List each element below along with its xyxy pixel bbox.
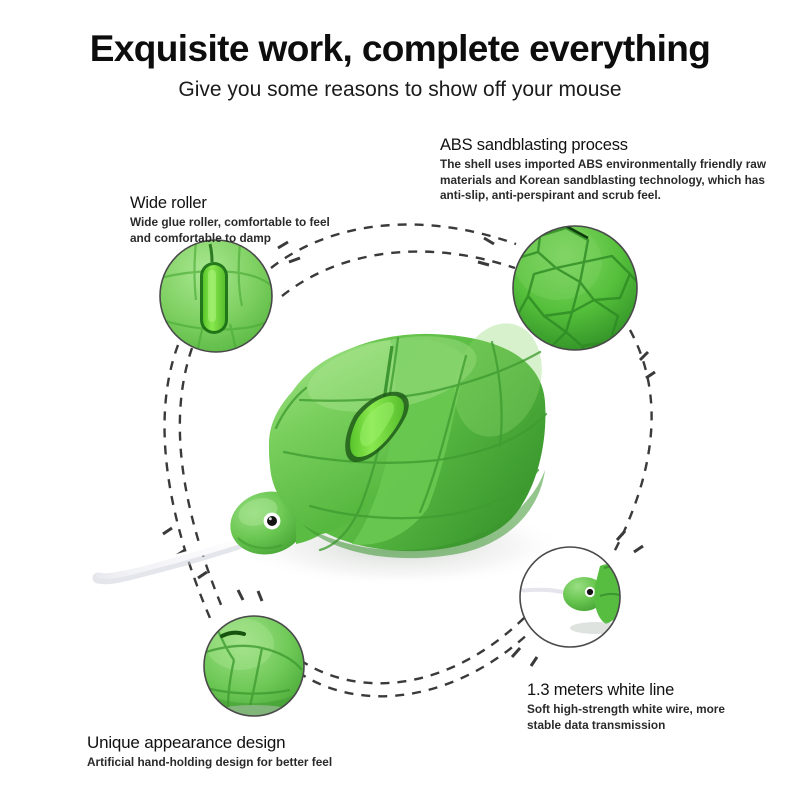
callout-body: Artificial hand-holding design for bette… <box>87 755 387 771</box>
detail-circle-head-and-cable <box>520 547 628 647</box>
callout-wide-roller: Wide roller Wide glue roller, comfortabl… <box>130 194 380 246</box>
callout-body-line: Artificial hand-holding design for bette… <box>87 755 387 771</box>
callout-body: Wide glue roller, comfortable to feel an… <box>130 215 380 246</box>
callout-body-line: The shell uses imported ABS environmenta… <box>440 157 785 173</box>
page-title: Exquisite work, complete everything <box>0 28 800 70</box>
product-turtle-mouse <box>98 312 565 587</box>
page-subtitle: Give you some reasons to show off your m… <box>0 78 800 102</box>
callout-body-line: anti-slip, anti-perspirant and scrub fee… <box>440 188 785 204</box>
callout-body: Soft high-strength white wire, more stab… <box>527 702 797 733</box>
callout-body: The shell uses imported ABS environmenta… <box>440 157 785 204</box>
callout-abs-sandblasting-process: ABS sandblasting process The shell uses … <box>440 136 785 204</box>
callout-title: Unique appearance design <box>87 733 387 753</box>
infographic-canvas: Exquisite work, complete everything Give… <box>0 0 800 800</box>
callout-body-line: materials and Korean sandblasting techno… <box>440 173 785 189</box>
callout-body-line: Soft high-strength white wire, more <box>527 702 797 718</box>
mouse-cable <box>98 533 252 579</box>
product-illustration <box>0 0 800 800</box>
callout-unique-appearance-design: Unique appearance design Artificial hand… <box>87 733 387 771</box>
callout-title: ABS sandblasting process <box>440 136 785 155</box>
callout-white-line: 1.3 meters white line Soft high-strength… <box>527 681 797 733</box>
callout-title: 1.3 meters white line <box>527 681 797 700</box>
callout-body-line: Wide glue roller, comfortable to feel <box>130 215 380 231</box>
detail-circle-scroll-wheel <box>158 238 276 356</box>
detail-circle-body-contour <box>204 616 304 719</box>
callout-body-line: and comfortable to damp <box>130 231 380 247</box>
callout-body-line: stable data transmission <box>527 718 797 734</box>
mouse-shell-body <box>269 312 556 558</box>
turtle-eye <box>264 513 281 530</box>
callout-title: Wide roller <box>130 194 380 213</box>
